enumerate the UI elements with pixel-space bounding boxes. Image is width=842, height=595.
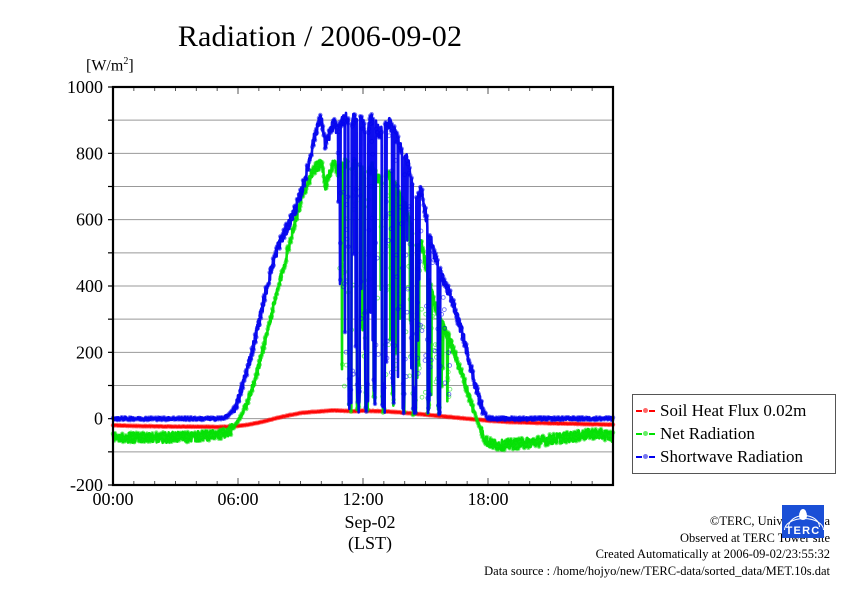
legend-marker-shortwave-radiation [636,451,656,463]
legend: Soil Heat Flux 0.02m Net Radiation Short… [632,394,836,474]
data-series-group [111,112,615,451]
legend-item-shortwave-radiation: Shortwave Radiation [636,445,832,468]
logo-text: TERC [782,525,824,537]
legend-label-shortwave-radiation: Shortwave Radiation [660,447,803,467]
legend-label-soil-heat-flux: Soil Heat Flux 0.02m [660,401,806,421]
legend-item-net-radiation: Net Radiation [636,422,832,445]
series-net-radiation [111,157,615,452]
footer-copyright: ©TERC, Univ. Tsukuba [420,513,830,530]
x-tick-label: 06:00 [217,489,258,509]
chart-page: Radiation / 2006-09-02 [W/m2] -200020040… [0,0,842,595]
y-tick-label: 200 [76,342,103,362]
y-tick-label: 600 [76,210,103,230]
x-axis-tick-labels: 00:0006:0012:0018:00 [92,489,508,509]
y-tick-label: 400 [76,276,103,296]
y-axis-tick-labels: -20002004006008001000 [67,77,103,495]
footer-data-source: Data source : /home/hojyo/new/TERC-data/… [420,563,830,580]
y-tick-label: 0 [94,409,103,429]
x-tick-label: 18:00 [467,489,508,509]
legend-label-net-radiation: Net Radiation [660,424,755,444]
x-tick-label: 00:00 [92,489,133,509]
y-tick-label: 800 [76,143,103,163]
legend-marker-soil-heat-flux [636,405,656,417]
footer-observed-at: Observed at TERC Tower site [420,530,830,547]
x-tick-label: 12:00 [342,489,383,509]
plot-area: -20002004006008001000 00:0006:0012:0018:… [0,0,842,595]
legend-item-soil-heat-flux: Soil Heat Flux 0.02m [636,399,832,422]
legend-marker-net-radiation [636,428,656,440]
footer-created-at: Created Automatically at 2006-09-02/23:5… [420,546,830,563]
terc-logo-icon: TERC [782,505,824,538]
y-tick-label: 1000 [67,77,103,97]
footer-text: ©TERC, Univ. Tsukuba Observed at TERC To… [420,513,830,579]
